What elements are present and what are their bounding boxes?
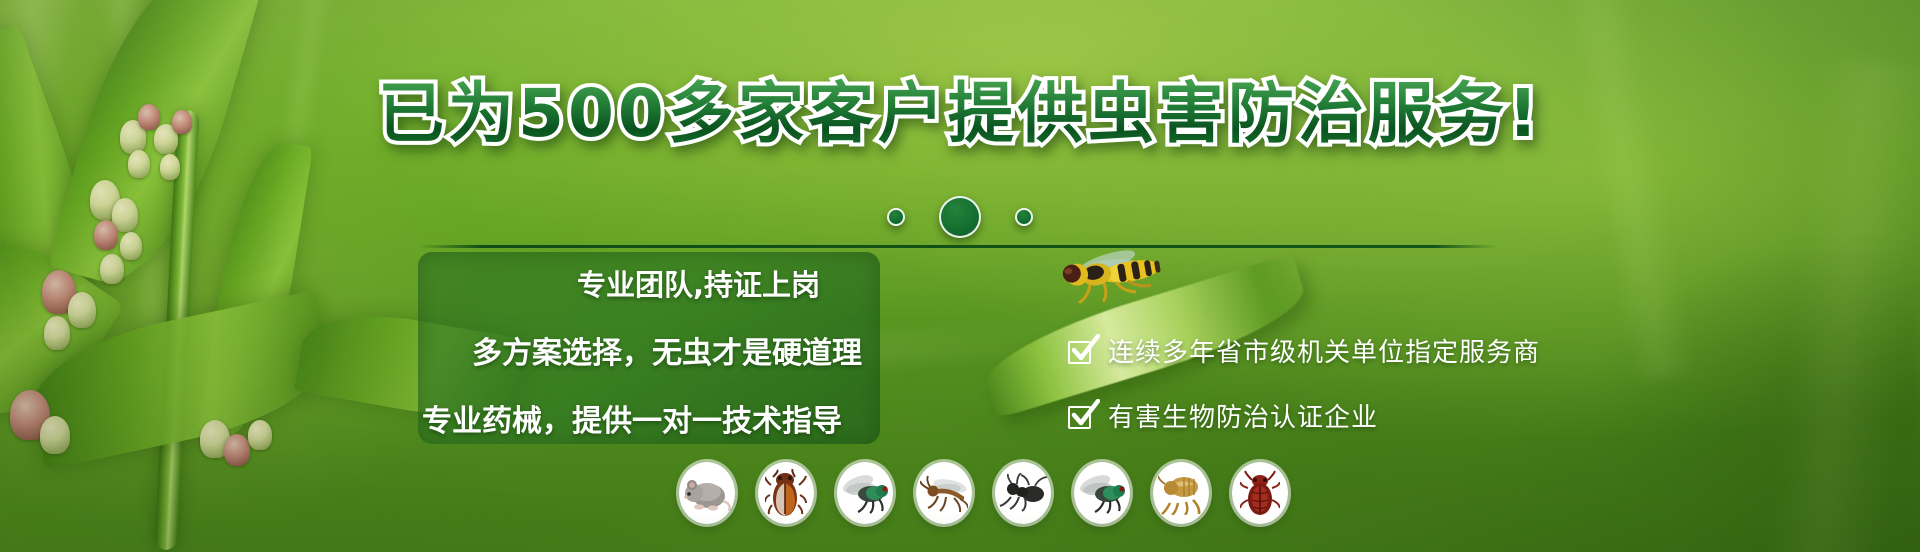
slogan-line-3: 专业药械，提供一对一技术指导	[406, 396, 906, 440]
decorative-dot-row	[0, 196, 1920, 238]
ant-icon[interactable]: 蚂蚁	[995, 462, 1051, 524]
checklist-item: 有害生物防治认证企业	[1068, 397, 1540, 434]
headline-fill-layer: 已为500多家客户提供虫害防治服务!	[378, 78, 1542, 149]
checklist-item: 连续多年省市级机关单位指定服务商	[1068, 332, 1540, 369]
checkbox-check-icon	[1068, 338, 1094, 364]
mosquito-icon[interactable]: 蚊	[916, 462, 972, 524]
slogan-line-1: 专业团队,持证上岗	[406, 262, 906, 304]
divider-line	[418, 245, 1498, 248]
blowfly-icon[interactable]: 绿头蝇	[1074, 462, 1130, 524]
checklist-label: 有害生物防治认证企业	[1108, 397, 1378, 434]
promo-banner: 已为500多家客户提供虫害防治服务! 已为500多家客户提供虫害防治服务! 专业…	[0, 0, 1920, 552]
checklist-label: 连续多年省市级机关单位指定服务商	[1108, 332, 1540, 369]
large-dot-icon	[939, 196, 981, 238]
pest-icon-row: 鼠 蟑螂	[679, 462, 1288, 524]
checkbox-check-icon	[1068, 403, 1094, 429]
slogan-line-2: 多方案选择，无虫才是硬道理	[406, 328, 906, 372]
flea-icon[interactable]: 跳蚤	[1153, 462, 1209, 524]
slogan-text-group: 专业团队,持证上岗 多方案选择，无虫才是硬道理 专业药械，提供一对一技术指导	[406, 256, 906, 444]
bedbug-icon[interactable]: 臭虫	[1232, 462, 1288, 524]
small-dot-icon	[887, 208, 905, 226]
fly-icon[interactable]: 苍蝇	[837, 462, 893, 524]
cockroach-icon[interactable]: 蟑螂	[758, 462, 814, 524]
mouse-icon[interactable]: 鼠	[679, 462, 735, 524]
banner-headline: 已为500多家客户提供虫害防治服务! 已为500多家客户提供虫害防治服务!	[378, 78, 1542, 149]
small-dot-icon	[1015, 208, 1033, 226]
headline-container: 已为500多家客户提供虫害防治服务! 已为500多家客户提供虫害防治服务!	[0, 78, 1920, 149]
checklist: 连续多年省市级机关单位指定服务商 有害生物防治认证企业	[1068, 332, 1540, 462]
